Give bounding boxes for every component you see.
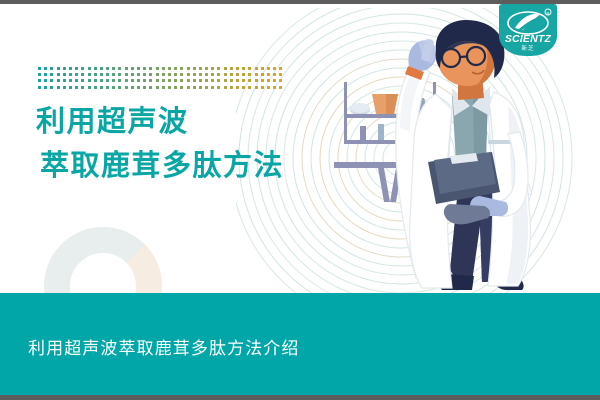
halftone-dot [112, 73, 115, 76]
halftone-dot [211, 73, 214, 76]
halftone-dot [199, 79, 202, 82]
halftone-dot [100, 79, 103, 82]
halftone-dot [242, 79, 245, 82]
halftone-dot [38, 67, 41, 70]
halftone-dot [125, 86, 128, 89]
halftone-dot [273, 73, 276, 76]
halftone-dot [242, 67, 245, 70]
halftone-dot [69, 73, 72, 76]
halftone-dot [106, 79, 109, 82]
halftone-dot [230, 86, 233, 89]
halftone-dot [224, 86, 227, 89]
halftone-dot [57, 86, 60, 89]
halftone-dot [63, 86, 66, 89]
halftone-dot [69, 67, 72, 70]
halftone-dot [187, 86, 190, 89]
halftone-dot [236, 86, 239, 89]
halftone-dot [149, 86, 152, 89]
halftone-dot [143, 67, 146, 70]
halftone-dot [81, 73, 84, 76]
halftone-dot [211, 86, 214, 89]
halftone-dot [255, 67, 258, 70]
halftone-dot [211, 67, 214, 70]
halftone-dot [236, 67, 239, 70]
halftone-dot [69, 86, 72, 89]
halftone-dot [199, 67, 202, 70]
halftone-dot [94, 79, 97, 82]
halftone-dot [112, 67, 115, 70]
halftone-dot [248, 67, 251, 70]
halftone-dot [255, 79, 258, 82]
halftone-dot [100, 67, 103, 70]
presentation-slide: 利用超声波 萃取鹿茸多肽方法 [0, 0, 600, 400]
halftone-dot [75, 67, 78, 70]
halftone-dot [230, 67, 233, 70]
halftone-dot [261, 79, 264, 82]
halftone-dot [205, 67, 208, 70]
halftone-dot [261, 73, 264, 76]
halftone-dot [174, 86, 177, 89]
halftone-dot [248, 86, 251, 89]
svg-text:R: R [547, 10, 550, 15]
halftone-dot [199, 86, 202, 89]
halftone-dot [248, 73, 251, 76]
page-title-line1: 利用超声波 [36, 100, 284, 144]
halftone-dot [279, 73, 282, 76]
halftone-dot [224, 73, 227, 76]
halftone-dot [143, 73, 146, 76]
halftone-dot [242, 86, 245, 89]
halftone-dot [112, 86, 115, 89]
halftone-dot [38, 79, 41, 82]
halftone-dot [118, 86, 121, 89]
halftone-dot [81, 86, 84, 89]
halftone-dot [180, 86, 183, 89]
halftone-dot [224, 79, 227, 82]
halftone-dot [149, 67, 152, 70]
halftone-dot [50, 73, 53, 76]
halftone-dot [131, 67, 134, 70]
halftone-dot [112, 79, 115, 82]
halftone-dot [224, 67, 227, 70]
halftone-dot [75, 73, 78, 76]
halftone-dot [255, 86, 258, 89]
halftone-dot [168, 73, 171, 76]
halftone-dot [156, 73, 159, 76]
halftone-dot [279, 79, 282, 82]
halftone-dot [75, 86, 78, 89]
halftone-dot [118, 73, 121, 76]
halftone-dot [57, 67, 60, 70]
page-title: 利用超声波 萃取鹿茸多肽方法 [36, 100, 284, 188]
halftone-dot [106, 73, 109, 76]
halftone-dot [57, 73, 60, 76]
halftone-dot [63, 79, 66, 82]
halftone-dot [217, 79, 220, 82]
halftone-dot [156, 86, 159, 89]
halftone-dot [180, 73, 183, 76]
banner-caption: 利用超声波萃取鹿茸多肽方法介绍 [28, 334, 300, 359]
halftone-dot [94, 86, 97, 89]
halftone-dot [174, 73, 177, 76]
halftone-dot [193, 73, 196, 76]
halftone-dot [193, 79, 196, 82]
halftone-dot [180, 67, 183, 70]
halftone-dot [88, 67, 91, 70]
halftone-dot [162, 67, 165, 70]
halftone-dot [137, 79, 140, 82]
svg-text:SCIENTZ: SCIENTZ [505, 33, 552, 45]
halftone-dot [168, 86, 171, 89]
halftone-dot [137, 86, 140, 89]
halftone-dot [217, 67, 220, 70]
halftone-dot [57, 79, 60, 82]
halftone-dot [236, 73, 239, 76]
halftone-dot [137, 67, 140, 70]
halftone-dot [230, 79, 233, 82]
halftone-dot [118, 79, 121, 82]
halftone-dot [267, 67, 270, 70]
halftone-dot [100, 86, 103, 89]
halftone-dot [94, 67, 97, 70]
halftone-dot [50, 67, 53, 70]
halftone-dot [137, 73, 140, 76]
halftone-dot [168, 79, 171, 82]
halftone-dot [44, 73, 47, 76]
halftone-dot [149, 79, 152, 82]
halftone-dot [106, 67, 109, 70]
halftone-dot [131, 86, 134, 89]
halftone-dot [273, 86, 276, 89]
halftone-dot [217, 86, 220, 89]
halftone-dot [118, 67, 121, 70]
halftone-dot [242, 73, 245, 76]
halftone-dot [261, 67, 264, 70]
halftone-dot [81, 67, 84, 70]
halftone-dot [267, 73, 270, 76]
halftone-dot [94, 73, 97, 76]
halftone-dot [236, 79, 239, 82]
bottom-banner: 利用超声波萃取鹿茸多肽方法介绍 [0, 293, 600, 395]
halftone-dot [217, 73, 220, 76]
halftone-dot [75, 79, 78, 82]
halftone-dot [100, 73, 103, 76]
halftone-dot [273, 79, 276, 82]
bottom-chrome-bar [0, 395, 600, 400]
halftone-dot [125, 79, 128, 82]
halftone-dot [44, 79, 47, 82]
halftone-dot [69, 79, 72, 82]
halftone-dot [131, 79, 134, 82]
halftone-dot [174, 67, 177, 70]
halftone-dot [205, 73, 208, 76]
halftone-dot [81, 79, 84, 82]
halftone-dot [211, 79, 214, 82]
page-title-line2: 萃取鹿茸多肽方法 [36, 144, 284, 188]
scientz-shield-logo[interactable]: R SCIENTZ 新芝 [499, 4, 557, 56]
svg-text:新芝: 新芝 [521, 44, 534, 52]
halftone-dot [248, 79, 251, 82]
halftone-dot [38, 86, 41, 89]
halftone-dot [149, 73, 152, 76]
halftone-dot [187, 73, 190, 76]
halftone-dot [38, 73, 41, 76]
halftone-dot [143, 86, 146, 89]
halftone-dot [174, 79, 177, 82]
halftone-dot [162, 79, 165, 82]
halftone-dot [187, 79, 190, 82]
halftone-dot [44, 67, 47, 70]
halftone-dot [267, 86, 270, 89]
halftone-dot [168, 67, 171, 70]
halftone-dot [193, 86, 196, 89]
halftone-dot [125, 67, 128, 70]
halftone-dot [88, 73, 91, 76]
head [436, 20, 505, 100]
scientist-illustration [330, 20, 600, 310]
halftone-dot [230, 73, 233, 76]
halftone-dot [273, 67, 276, 70]
halftone-dot [279, 86, 282, 89]
halftone-dot [187, 67, 190, 70]
halftone-dot [143, 79, 146, 82]
halftone-dot [88, 86, 91, 89]
halftone-dot [125, 73, 128, 76]
halftone-dot [199, 73, 202, 76]
halftone-dot [88, 79, 91, 82]
halftone-dot [156, 67, 159, 70]
halftone-dot [50, 79, 53, 82]
halftone-dot [193, 67, 196, 70]
halftone-dot [44, 86, 47, 89]
halftone-dot [261, 86, 264, 89]
halftone-dot [63, 73, 66, 76]
halftone-dot [156, 79, 159, 82]
halftone-dot [279, 67, 282, 70]
halftone-dot [267, 79, 270, 82]
halftone-dot [205, 86, 208, 89]
halftone-dot [180, 79, 183, 82]
halftone-dot [106, 86, 109, 89]
halftone-dot [63, 67, 66, 70]
halftone-dot [255, 73, 258, 76]
halftone-dot [162, 73, 165, 76]
halftone-dot [205, 79, 208, 82]
halftone-dot [50, 86, 53, 89]
halftone-dot-grid [38, 67, 286, 92]
halftone-dot [162, 86, 165, 89]
halftone-dot [131, 73, 134, 76]
